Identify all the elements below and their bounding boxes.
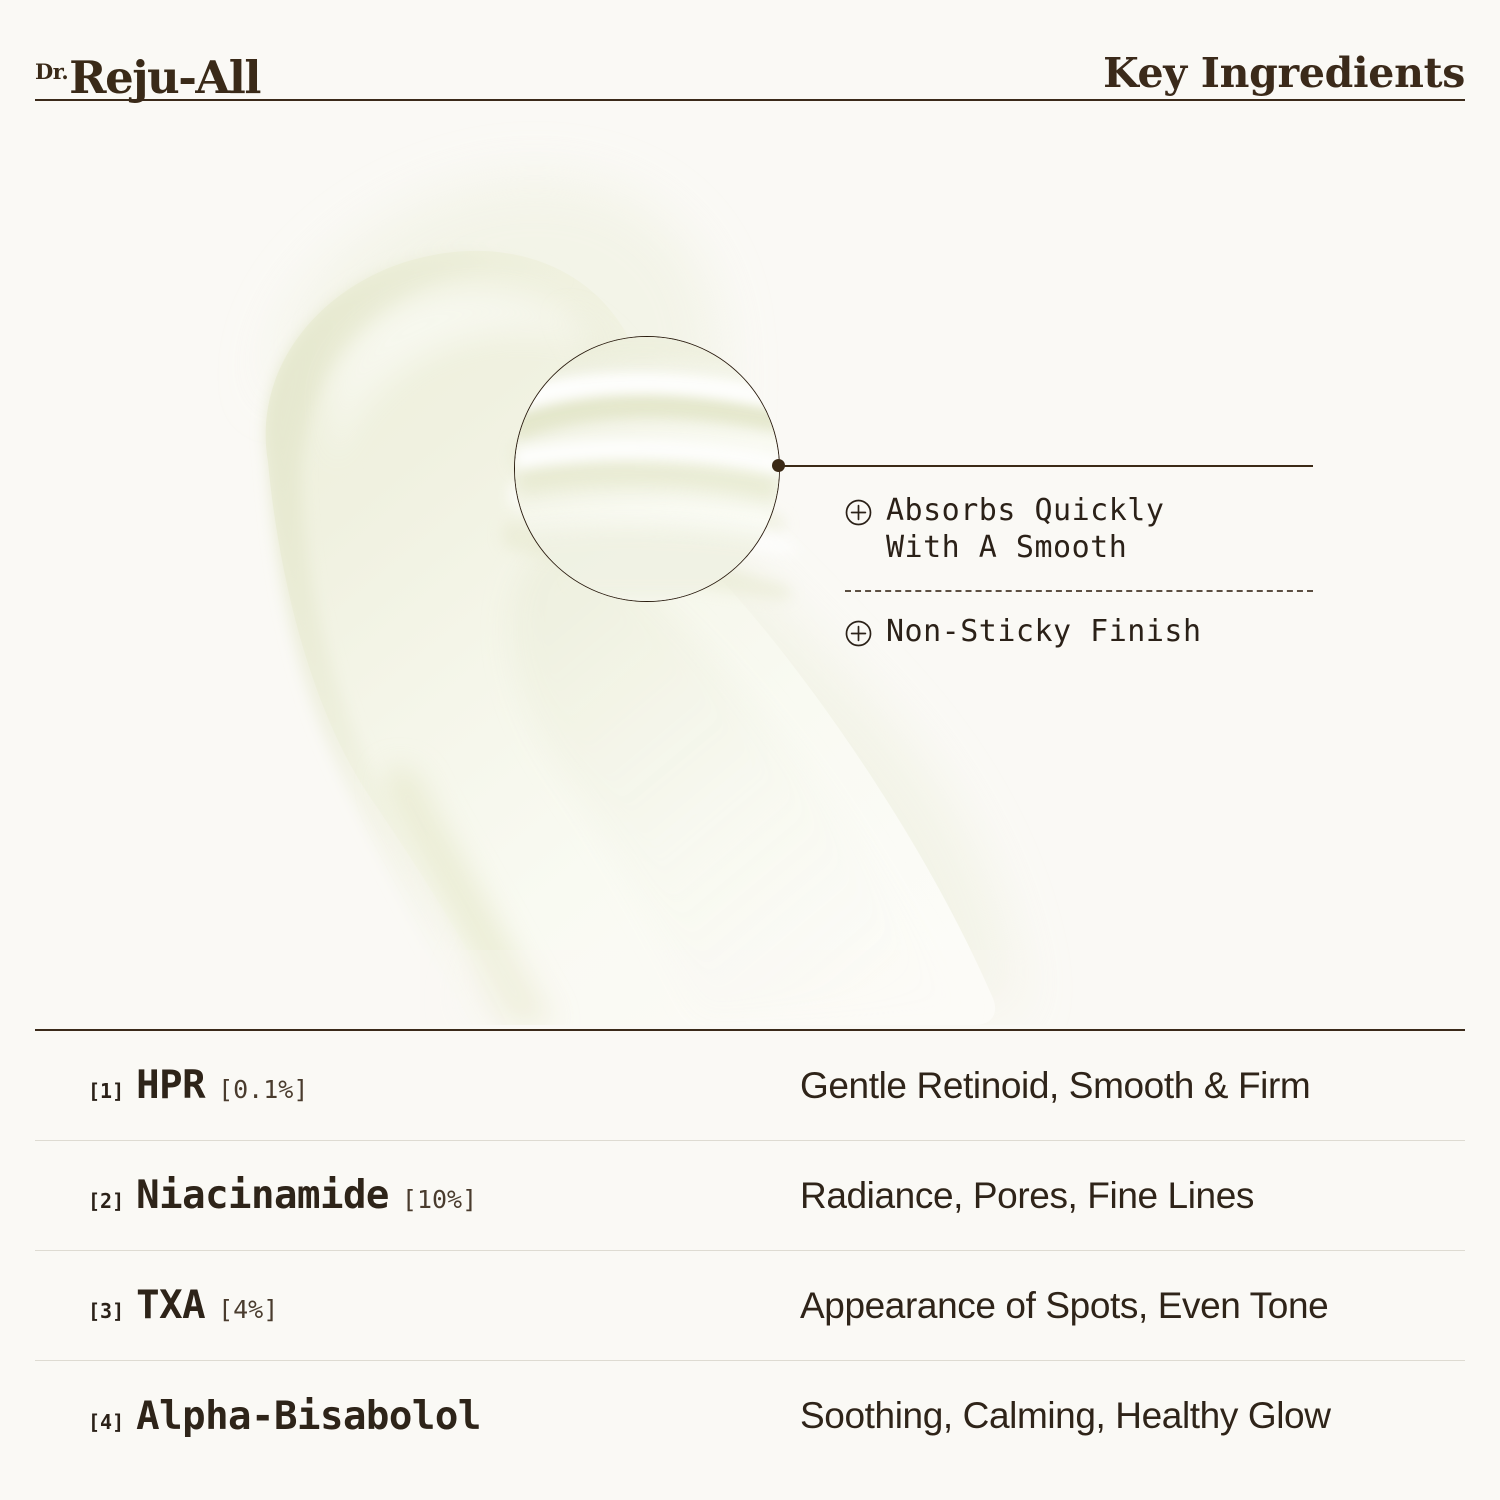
ingredient-index: [2] — [88, 1189, 124, 1213]
ingredient-name-cell: [1] HPR [0.1%] — [35, 1063, 800, 1108]
callout-text: Absorbs Quickly With A Smooth — [886, 493, 1164, 566]
table-row: [3] TXA [4%] Appearance of Spots, Even T… — [35, 1251, 1465, 1361]
brand-name: Reju-All — [69, 55, 260, 100]
ingredients-table: [1] HPR [0.1%] Gentle Retinoid, Smooth &… — [35, 1031, 1465, 1471]
ingredient-name-cell: [4] Alpha-Bisabolol — [35, 1394, 800, 1439]
callout-item-1: Absorbs Quickly With A Smooth — [845, 493, 1315, 566]
header-divider — [35, 99, 1465, 101]
table-row: [1] HPR [0.1%] Gentle Retinoid, Smooth &… — [35, 1031, 1465, 1141]
ingredient-index: [3] — [88, 1299, 124, 1323]
page-header: Dr. Reju-All Key Ingredients — [35, 20, 1465, 100]
ingredient-benefit: Gentle Retinoid, Smooth & Firm — [800, 1065, 1310, 1107]
product-ingredients-infographic: Dr. Reju-All Key Ingredients — [0, 0, 1500, 1500]
hero-section: Absorbs Quickly With A Smooth Non-Sticky… — [0, 110, 1500, 1025]
brand-prefix: Dr. — [35, 61, 68, 82]
ingredient-benefit: Appearance of Spots, Even Tone — [800, 1285, 1328, 1327]
callout-text: Non-Sticky Finish — [886, 614, 1202, 651]
ingredient-percent: [0.1%] — [218, 1075, 308, 1104]
ingredient-percent: [10%] — [402, 1185, 477, 1214]
ingredient-index: [4] — [88, 1410, 124, 1434]
table-row: [2] Niacinamide [10%] Radiance, Pores, F… — [35, 1141, 1465, 1251]
ingredient-name-cell: [2] Niacinamide [10%] — [35, 1173, 800, 1218]
ingredient-name: TXA — [136, 1283, 205, 1328]
ingredient-name: Niacinamide — [136, 1173, 389, 1218]
callout-list: Absorbs Quickly With A Smooth Non-Sticky… — [845, 493, 1315, 651]
ingredient-benefit: Soothing, Calming, Healthy Glow — [800, 1395, 1331, 1437]
brand-logo: Dr. Reju-All — [35, 59, 260, 100]
callout-divider — [845, 590, 1313, 592]
circled-plus-icon — [845, 620, 872, 647]
leader-line — [779, 465, 1313, 467]
ingredient-name: Alpha-Bisabolol — [136, 1394, 481, 1439]
page-title: Key Ingredients — [1103, 49, 1465, 97]
ingredient-name: HPR — [136, 1063, 205, 1108]
table-row: [4] Alpha-Bisabolol Soothing, Calming, H… — [35, 1361, 1465, 1471]
ingredient-index: [1] — [88, 1079, 124, 1103]
magnifier-content — [515, 337, 780, 602]
circled-plus-icon — [845, 499, 872, 526]
ingredient-percent: [4%] — [218, 1295, 278, 1324]
cream-texture-magnifier[interactable] — [514, 336, 780, 602]
callout-item-2: Non-Sticky Finish — [845, 614, 1315, 651]
ingredient-benefit: Radiance, Pores, Fine Lines — [800, 1175, 1254, 1217]
ingredient-name-cell: [3] TXA [4%] — [35, 1283, 800, 1328]
